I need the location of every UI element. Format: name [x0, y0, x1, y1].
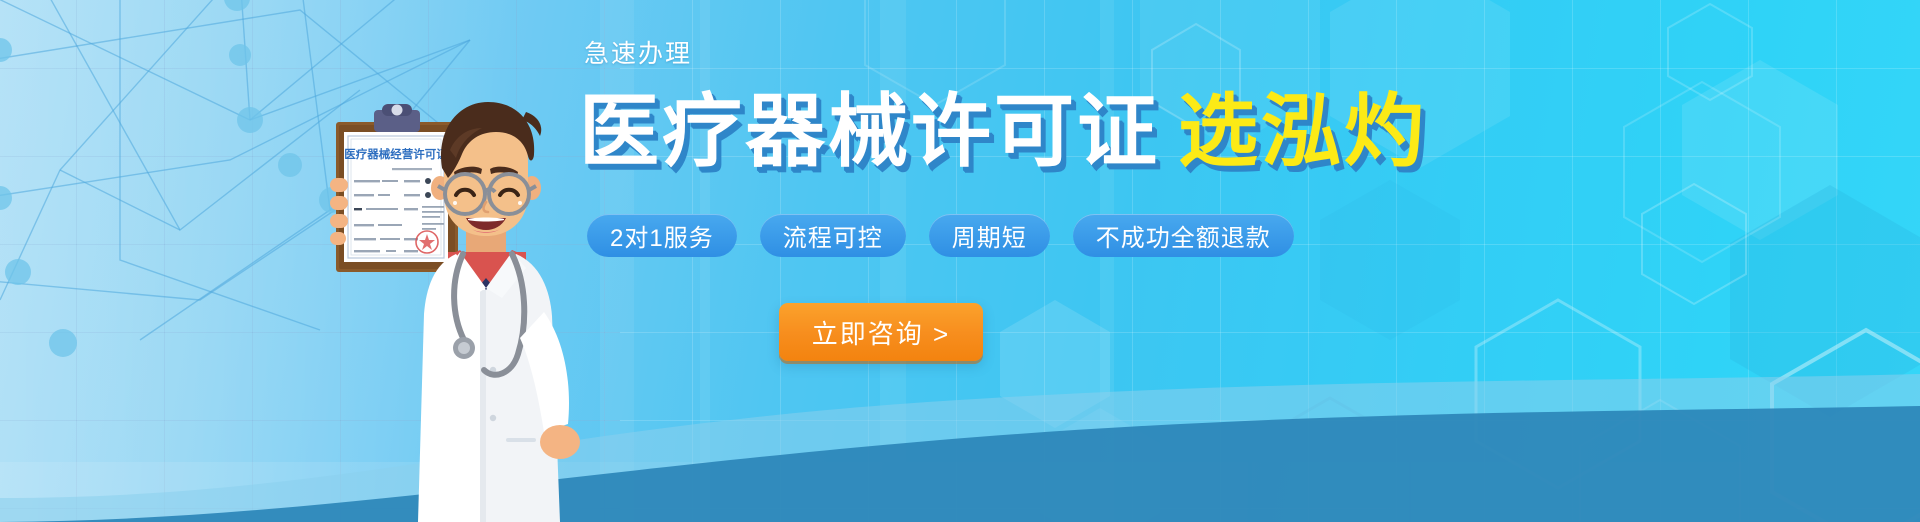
clipboard-title-text: 医疗器械经营许可证	[344, 147, 448, 161]
feature-pill-list: 2对1服务 流程可控 周期短 不成功全额退款	[587, 214, 1883, 257]
consult-now-button[interactable]: 立即咨询 >	[779, 303, 983, 361]
feature-pill-4[interactable]: 不成功全额退款	[1073, 214, 1294, 257]
eyebrow-text: 急速办理	[584, 42, 1883, 67]
hand-right	[540, 425, 580, 459]
banner-content: 急速办理 医疗器械许可证 选泓灼 2对1服务 流程可控 周期短 不成功全额退款 …	[583, 42, 1883, 482]
headline-main: 医疗器械许可证	[579, 91, 1160, 173]
feature-pill-1[interactable]: 2对1服务	[587, 214, 737, 257]
feature-pill-2[interactable]: 流程可控	[760, 214, 906, 257]
doctor-figure	[418, 220, 580, 522]
promo-banner: 医疗器械经营许可证	[0, 0, 1920, 522]
cta-container: 立即咨询 >	[779, 303, 1883, 361]
feature-pill-3[interactable]: 周期短	[929, 214, 1050, 257]
headline-accent: 选泓灼	[1178, 91, 1427, 173]
headline: 医疗器械许可证 选泓灼	[579, 91, 1883, 173]
